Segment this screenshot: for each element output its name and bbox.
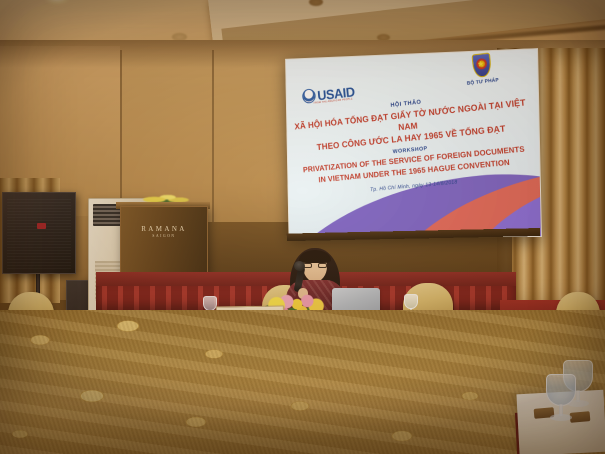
- water-glass: [546, 366, 576, 420]
- glass-bowl: [203, 296, 217, 311]
- speaker-badge-icon: [37, 223, 46, 229]
- venue-brand: RAMANA: [139, 225, 189, 233]
- podium: RAMANA SAIGON: [120, 206, 208, 274]
- glass-foot: [550, 414, 572, 421]
- loudspeaker: [2, 192, 76, 274]
- presentation-slide: USAID FROM THE AMERICAN PEOPLE BỘ TƯ PHÁ…: [286, 49, 541, 236]
- glass-bowl: [404, 294, 418, 309]
- ministry-of-justice-label: BỘ TƯ PHÁP: [454, 76, 512, 88]
- projection-screen: USAID FROM THE AMERICAN PEOPLE BỘ TƯ PHÁ…: [285, 48, 542, 237]
- shield-emblem-icon: [471, 53, 491, 79]
- conference-room-photo: USAID FROM THE AMERICAN PEOPLE BỘ TƯ PHÁ…: [0, 0, 605, 454]
- venue-sign: RAMANA SAIGON: [139, 225, 189, 243]
- speaker-grille: [7, 197, 71, 269]
- eyeglasses-icon: [303, 263, 327, 268]
- venue-location: SAIGON: [139, 234, 189, 238]
- glass-bowl: [546, 374, 576, 406]
- wall-seam: [120, 50, 122, 222]
- wall-seam: [212, 50, 214, 222]
- carpet: [0, 310, 605, 454]
- ministry-of-justice-logo: BỘ TƯ PHÁP: [452, 50, 512, 88]
- apple-logo-icon: [353, 300, 359, 307]
- slide-body: USAID FROM THE AMERICAN PEOPLE BỘ TƯ PHÁ…: [286, 49, 541, 236]
